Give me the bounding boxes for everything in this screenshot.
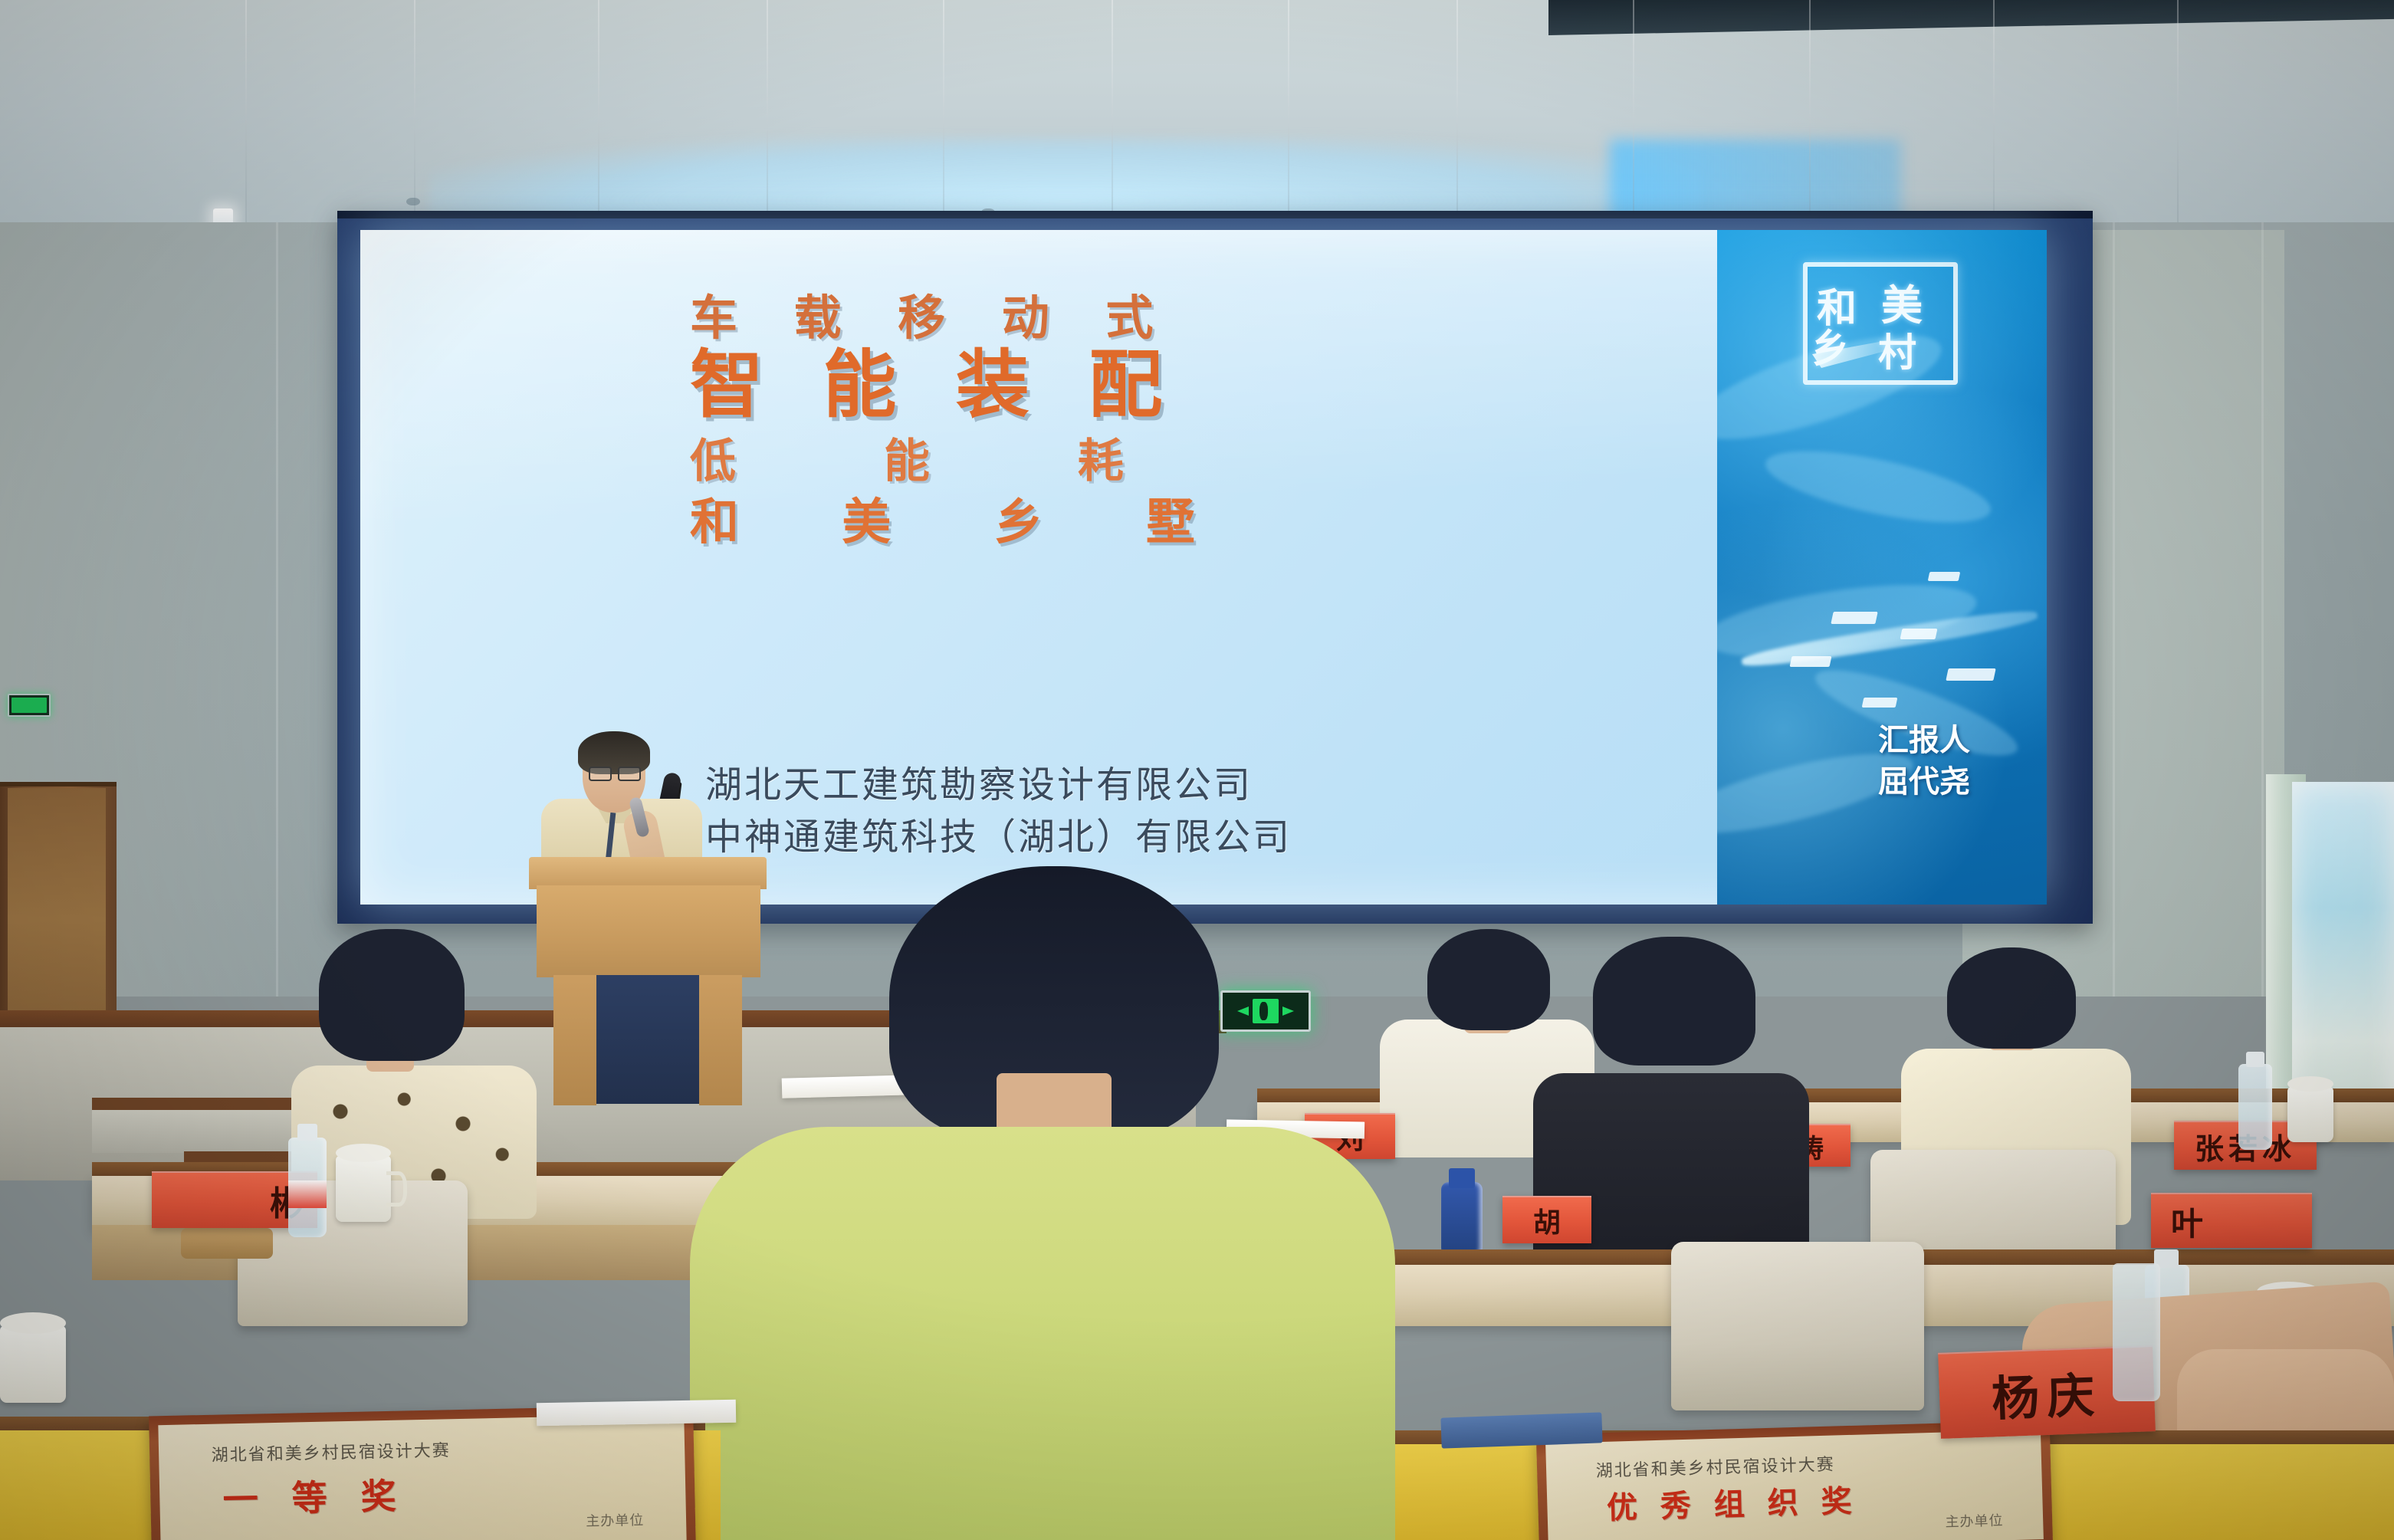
slide-company-block: 湖北天工建筑勘察设计有限公司 中神通建筑科技（湖北）有限公司 <box>705 759 1472 863</box>
wall-seam <box>2113 222 2115 997</box>
ceiling-seam <box>1993 0 1995 230</box>
presenter-label: 汇报人 <box>1832 721 2016 762</box>
ceiling-seam <box>1288 0 1289 230</box>
village-roof <box>1790 656 1832 667</box>
tea-cup-lid <box>2287 1076 2333 1092</box>
village-roof <box>1831 612 1877 624</box>
podium-leg-right <box>699 975 742 1105</box>
water-bottle <box>1441 1182 1483 1256</box>
ceiling-seam <box>1112 0 1113 230</box>
terrain-shape <box>1760 437 1996 537</box>
podium-recess <box>596 975 699 1104</box>
tea-cup-lid <box>336 1144 391 1162</box>
podium-leg-left <box>553 975 596 1105</box>
exit-arrow-right-icon <box>1282 1006 1309 1016</box>
exit-arrow-left-icon <box>1223 1006 1249 1016</box>
tea-cup <box>0 1326 66 1403</box>
award-plaque-inner: 湖北省和美乡村民宿设计大赛 一 等 奖 主办单位 <box>158 1414 686 1540</box>
exit-sign-icon <box>1220 990 1311 1032</box>
stage-backdrop-top-edge <box>337 211 2093 218</box>
bottle-cap <box>297 1124 317 1141</box>
person-hair <box>319 929 465 1061</box>
slide-title-line-1: 车 载 移 动 式 <box>690 291 1395 344</box>
document-sheet <box>537 1400 736 1427</box>
bottle-cap <box>2246 1052 2264 1067</box>
award-plaque-right: 湖北省和美乡村民宿设计大赛 优 秀 组 织 奖 主办单位 <box>1536 1420 2053 1540</box>
ceiling-seam <box>2177 0 2179 230</box>
award-plaque-left: 湖北省和美乡村民宿设计大赛 一 等 奖 主办单位 <box>149 1405 696 1540</box>
award-plaque-inner: 湖北省和美乡村民宿设计大赛 优 秀 组 织 奖 主办单位 <box>1545 1430 2044 1540</box>
speaker-glasses-icon <box>589 767 641 779</box>
ceiling-seam <box>943 0 944 230</box>
award-plaque-header: 湖北省和美乡村民宿设计大赛 <box>211 1433 632 1466</box>
person-hair <box>1593 937 1755 1066</box>
slide-title-line-2: 智 能 装 配 <box>690 346 1395 425</box>
person-hair <box>1427 929 1550 1030</box>
name-card: 胡 <box>1502 1196 1591 1243</box>
bottle-label <box>288 1180 327 1208</box>
presenter-name: 屈代尧 <box>1832 762 2016 803</box>
village-roof <box>1928 572 1961 581</box>
ceiling-seam <box>1456 0 1458 230</box>
exit-sign-glyph <box>11 698 47 713</box>
chair-armrest <box>181 1228 273 1259</box>
tea-cup <box>2287 1087 2333 1142</box>
tea-cup <box>336 1156 391 1222</box>
water-bottle <box>2238 1064 2272 1150</box>
slide-photo-panel: 和 美 乡 村 汇报人 屈代尧 <box>1717 230 2047 905</box>
award-plaque-title: 优 秀 组 织 奖 <box>1606 1473 1993 1528</box>
slide-company-line-2: 中神通建筑科技（湖北）有限公司 <box>705 811 1472 863</box>
wall-seam <box>276 222 278 997</box>
ceiling-seam <box>1633 0 1634 230</box>
wall-seam <box>2261 222 2264 997</box>
village-roof <box>1900 629 1938 639</box>
village-roof <box>1946 668 1995 681</box>
hemei-xiangcun-logo: 和 美 乡 村 <box>1803 262 1958 385</box>
slide-title-line-3: 低 能 耗 <box>690 433 1395 491</box>
folder <box>1440 1412 1602 1448</box>
water-bottle <box>2113 1263 2160 1401</box>
person-hair <box>1947 947 2076 1049</box>
podium-top <box>529 857 767 889</box>
tea-cup-handle <box>386 1171 407 1207</box>
slide-title-block: 车 载 移 动 式 智 能 装 配 低 能 耗 和 美 乡 墅 <box>690 291 1395 553</box>
village-roof <box>1862 698 1898 708</box>
award-plaque-issuer: 主办单位 <box>1945 1509 2004 1531</box>
award-plaque-issuer: 主办单位 <box>586 1509 645 1530</box>
ceiling-seam <box>767 0 768 230</box>
ceiling-seam <box>414 0 415 230</box>
person-torso-foreground <box>690 1127 1395 1540</box>
conference-room-scene: 车 载 移 动 式 智 能 装 配 低 能 耗 和 美 乡 墅 湖北天工建筑勘察… <box>0 0 2394 1540</box>
slide-title-line-4: 和 美 乡 墅 <box>690 494 1395 553</box>
bottle-cap <box>1449 1168 1475 1188</box>
ceiling-seam <box>598 0 599 230</box>
name-card: 叶 <box>2151 1193 2312 1248</box>
award-plaque-title: 一 等 奖 <box>222 1463 633 1522</box>
chair <box>1671 1242 1924 1410</box>
exit-running-man-icon <box>1253 999 1279 1023</box>
tea-cup-lid <box>0 1312 66 1334</box>
ceiling-seam <box>1809 0 1811 230</box>
slide-presenter-block: 汇报人 屈代尧 <box>1832 721 2016 803</box>
slide-company-line-1: 湖北天工建筑勘察设计有限公司 <box>705 759 1472 811</box>
ceiling-vent <box>406 198 420 205</box>
exit-sign-small-icon <box>8 694 51 717</box>
ceiling-seam <box>245 0 247 230</box>
podium-body <box>537 885 760 977</box>
